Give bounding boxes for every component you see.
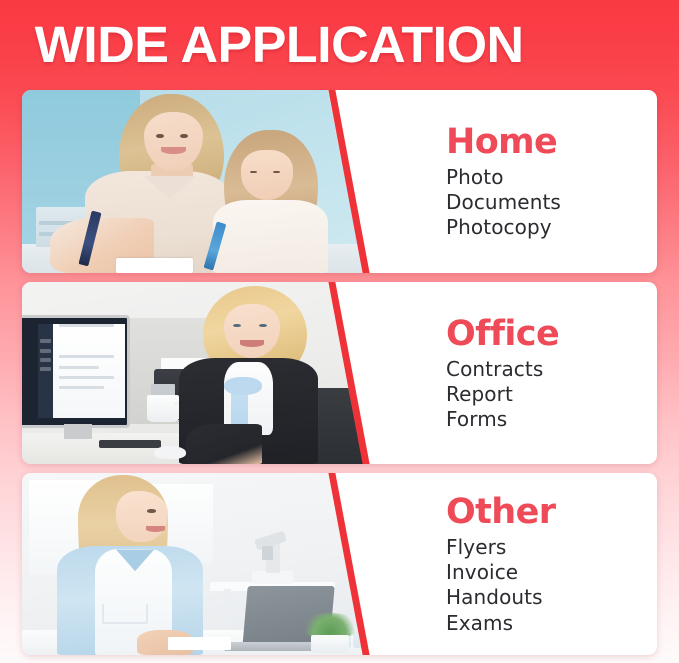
screen-text-line bbox=[59, 366, 99, 369]
card-inner: Other Flyers Invoice Handouts Exams bbox=[22, 473, 657, 655]
sidebar-line bbox=[40, 339, 51, 343]
woman-eye-left bbox=[156, 134, 164, 138]
card-heading-home: Home bbox=[446, 124, 657, 161]
screen-text-line bbox=[59, 324, 115, 327]
child-body bbox=[213, 200, 328, 273]
sidebar-line bbox=[40, 349, 51, 353]
list-item: Photocopy bbox=[446, 215, 657, 240]
list-item: Report bbox=[446, 382, 657, 407]
home-photo-scene bbox=[22, 90, 370, 273]
woman-smile bbox=[146, 526, 165, 532]
woman-smile bbox=[161, 147, 185, 154]
coffee-mug bbox=[147, 395, 178, 422]
woman-eye bbox=[147, 509, 155, 512]
keyboard bbox=[99, 440, 162, 447]
notebook-paper bbox=[116, 258, 193, 273]
computer-monitor bbox=[22, 315, 130, 428]
home-card-text: Home Photo Documents Photocopy bbox=[446, 90, 657, 273]
monitor-screen bbox=[38, 324, 125, 418]
title-bar: WIDE APPLICATION bbox=[0, 0, 679, 88]
screen-text-line bbox=[59, 355, 115, 358]
other-photo-scene bbox=[22, 473, 370, 655]
woman-arm bbox=[186, 424, 263, 464]
office-usage-list: Contracts Report Forms bbox=[446, 357, 657, 433]
plant-pot bbox=[311, 635, 349, 653]
card-heading-office: Office bbox=[446, 316, 657, 353]
microscope-base bbox=[252, 571, 294, 584]
card-inner: Home Photo Documents Photocopy bbox=[22, 90, 657, 273]
list-item: Invoice bbox=[446, 560, 657, 585]
screen-text-line bbox=[59, 386, 104, 389]
list-item: Photo bbox=[446, 165, 657, 190]
card-heading-other: Other bbox=[446, 494, 657, 531]
list-item: Exams bbox=[446, 611, 657, 636]
woman-smile bbox=[240, 340, 264, 347]
application-card-office: Office Contracts Report Forms bbox=[22, 282, 657, 464]
screen-text-line bbox=[59, 376, 115, 379]
home-photo bbox=[22, 90, 370, 273]
office-photo-scene bbox=[22, 282, 370, 464]
coat-pocket bbox=[102, 604, 148, 624]
sidebar-line bbox=[40, 367, 51, 371]
office-card-text: Office Contracts Report Forms bbox=[446, 282, 657, 464]
home-usage-list: Photo Documents Photocopy bbox=[446, 165, 657, 241]
list-item: Contracts bbox=[446, 357, 657, 382]
list-item: Flyers bbox=[446, 535, 657, 560]
sidebar-line bbox=[40, 358, 51, 362]
microscope-lens bbox=[262, 546, 272, 561]
paper-sheet bbox=[168, 637, 231, 650]
computer-mouse bbox=[154, 446, 185, 459]
list-item: Forms bbox=[446, 407, 657, 432]
other-card-text: Other Flyers Invoice Handouts Exams bbox=[446, 473, 657, 655]
monitor-stand bbox=[64, 424, 92, 439]
page-title: WIDE APPLICATION bbox=[0, 19, 524, 70]
blue-bow bbox=[224, 377, 262, 395]
background-table-leg bbox=[224, 589, 231, 633]
application-card-other: Other Flyers Invoice Handouts Exams bbox=[22, 473, 657, 655]
screen-sidebar bbox=[38, 324, 54, 418]
other-photo bbox=[22, 473, 370, 655]
wide-application-poster: WIDE APPLICATION bbox=[0, 0, 679, 663]
other-usage-list: Flyers Invoice Handouts Exams bbox=[446, 535, 657, 636]
list-item: Documents bbox=[446, 190, 657, 215]
list-item: Handouts bbox=[446, 585, 657, 610]
card-inner: Office Contracts Report Forms bbox=[22, 282, 657, 464]
woman-eye-right bbox=[180, 134, 188, 138]
office-photo bbox=[22, 282, 370, 464]
application-card-home: Home Photo Documents Photocopy bbox=[22, 90, 657, 273]
